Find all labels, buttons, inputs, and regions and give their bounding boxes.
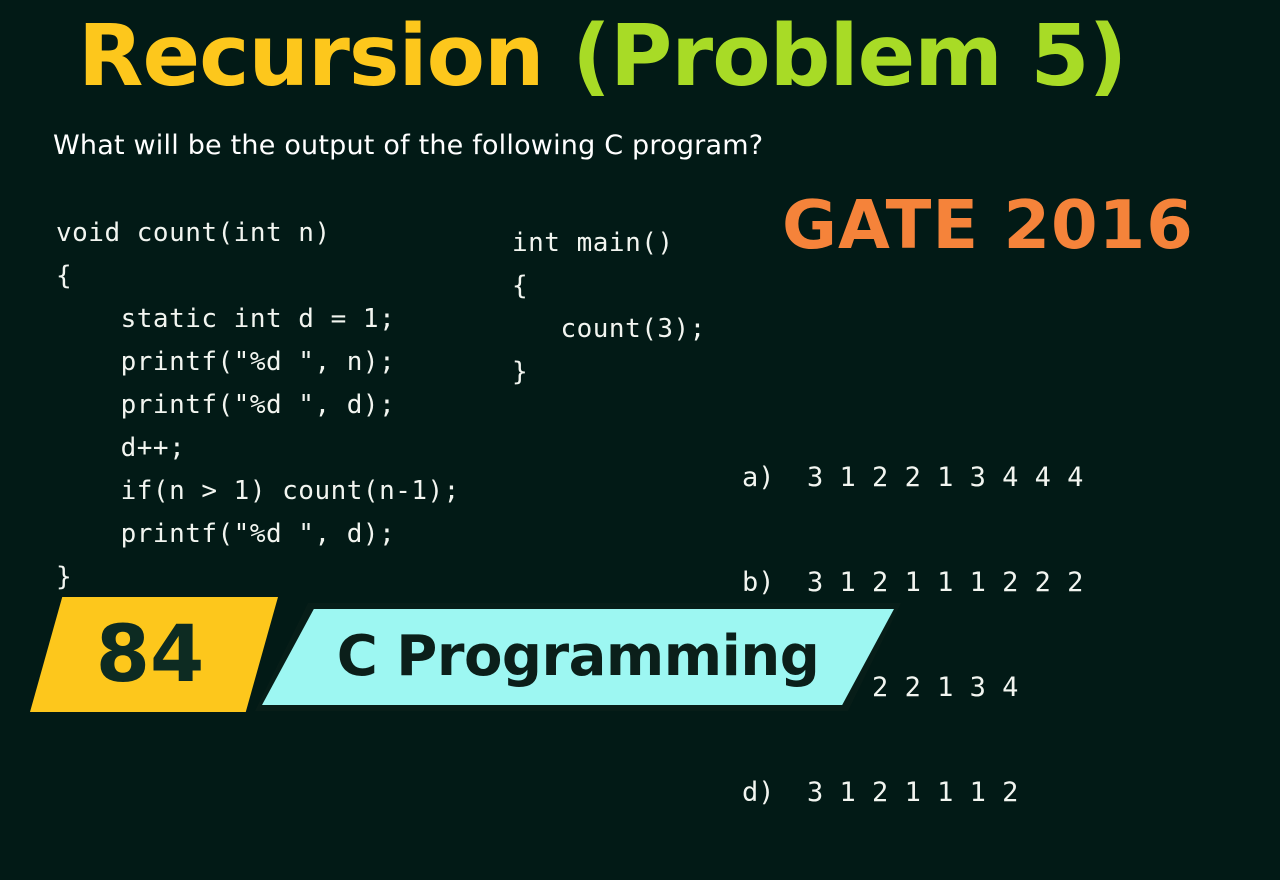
code-block-count-function: void count(int n) { static int d = 1; pr…	[56, 212, 460, 599]
slide-canvas: Recursion (Problem 5) What will be the o…	[0, 0, 1280, 720]
exam-badge: GATE 2016	[782, 186, 1194, 264]
page-title: Recursion (Problem 5)	[78, 14, 1126, 101]
answer-option-d-values: 3 1 2 1 1 1 2	[807, 777, 1018, 808]
title-topic: Recursion	[78, 7, 572, 106]
answer-option-a-values: 3 1 2 2 1 3 4 4 4	[807, 462, 1083, 493]
course-name-badge: C Programming	[262, 609, 894, 705]
question-prompt: What will be the output of the following…	[53, 130, 763, 161]
episode-number-badge: 84	[30, 597, 278, 712]
episode-number-label: 84	[96, 616, 205, 694]
code-block-main-function: int main() { count(3); }	[512, 222, 706, 394]
answer-option-d[interactable]: d) 3 1 2 1 1 1 2	[742, 775, 1083, 810]
footer-banner: 84 C Programming	[0, 592, 1280, 720]
answer-option-d-key: d)	[742, 777, 775, 808]
answer-option-a-key: a)	[742, 462, 775, 493]
answer-option-a[interactable]: a) 3 1 2 2 1 3 4 4 4	[742, 460, 1083, 495]
course-name-label: C Programming	[337, 629, 820, 685]
title-problem-number: (Problem 5)	[572, 7, 1126, 106]
